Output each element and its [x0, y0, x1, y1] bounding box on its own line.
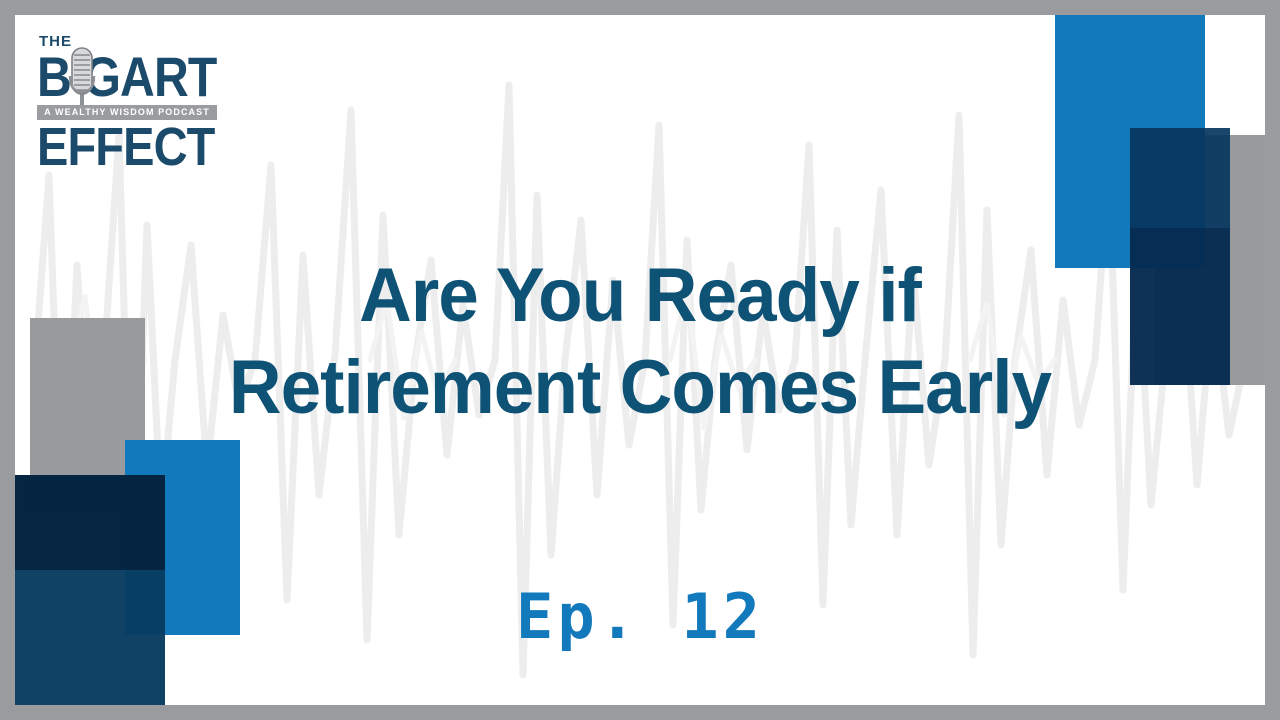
logo-effect-text: EFFECT	[37, 118, 214, 176]
episode-title: Are You Ready if Retirement Comes Early	[15, 250, 1265, 434]
card-canvas: THE B GART	[15, 15, 1265, 705]
decor-block-bottom-left-navy-dark	[15, 475, 165, 570]
logo-brand-wordmark: B GART	[37, 48, 217, 106]
episode-title-line-1: Are You Ready if	[40, 250, 1240, 342]
episode-title-line-2: Retirement Comes Early	[40, 342, 1240, 434]
logo-tagline-band: A WEALTHY WISDOM PODCAST	[37, 105, 217, 120]
logo-brand-text: B GART	[37, 48, 216, 106]
episode-title-card: THE B GART	[0, 0, 1280, 720]
logo-tagline-text: A WEALTHY WISDOM PODCAST	[37, 105, 217, 120]
podcast-logo: THE B GART	[33, 30, 219, 175]
episode-number-label: Ep. 12	[15, 581, 1265, 653]
